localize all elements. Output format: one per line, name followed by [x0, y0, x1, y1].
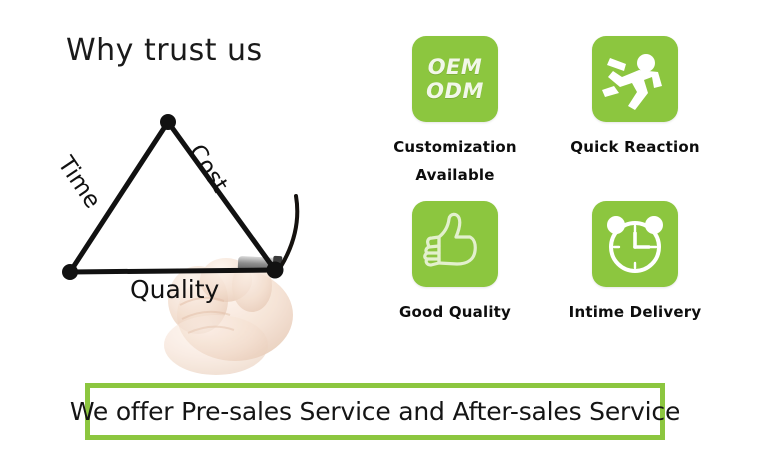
oem-odm-icon-text: OEM ODM	[412, 55, 498, 103]
feature-label-quick-reaction: Quick Reaction	[545, 133, 725, 161]
feature-label-line1: Customization	[365, 133, 545, 161]
alarm-clock-icon	[592, 201, 678, 287]
odm-line: ODM	[412, 79, 498, 103]
feature-label-customization: Customization Available	[365, 133, 545, 189]
thumbs-up-glyph	[412, 201, 498, 287]
feature-label-line1: Good Quality	[365, 298, 545, 326]
triangle-graphic	[30, 100, 330, 365]
oem-line: OEM	[412, 55, 498, 79]
page-title: Why trust us	[66, 33, 263, 68]
quality-triangle-diagram: Time Cost Quality	[30, 100, 330, 365]
thumbs-up-icon	[412, 201, 498, 287]
feature-label-line1: Intime Delivery	[545, 298, 725, 326]
feature-item-intime-delivery: Intime Delivery	[545, 201, 725, 326]
alarm-clock-glyph	[592, 201, 678, 287]
oem-odm-icon: OEM ODM	[412, 36, 498, 122]
service-banner-text: We offer Pre-sales Service and After-sal…	[70, 397, 680, 426]
feature-label-line2: Available	[365, 161, 545, 189]
feature-label-intime-delivery: Intime Delivery	[545, 298, 725, 326]
service-banner: We offer Pre-sales Service and After-sal…	[85, 383, 665, 440]
feature-label-good-quality: Good Quality	[365, 298, 545, 326]
feature-item-customization: OEM ODM Customization Available	[365, 36, 545, 189]
feature-item-good-quality: Good Quality	[365, 201, 545, 326]
triangle-label-quality: Quality	[130, 275, 219, 304]
promo-graphic: Why trust us	[0, 0, 764, 462]
feature-label-line1: Quick Reaction	[545, 133, 725, 161]
running-person-icon	[592, 36, 678, 122]
feature-grid: OEM ODM Customization Available	[355, 36, 715, 341]
running-person-glyph	[592, 36, 678, 122]
feature-item-quick-reaction: Quick Reaction	[545, 36, 725, 161]
